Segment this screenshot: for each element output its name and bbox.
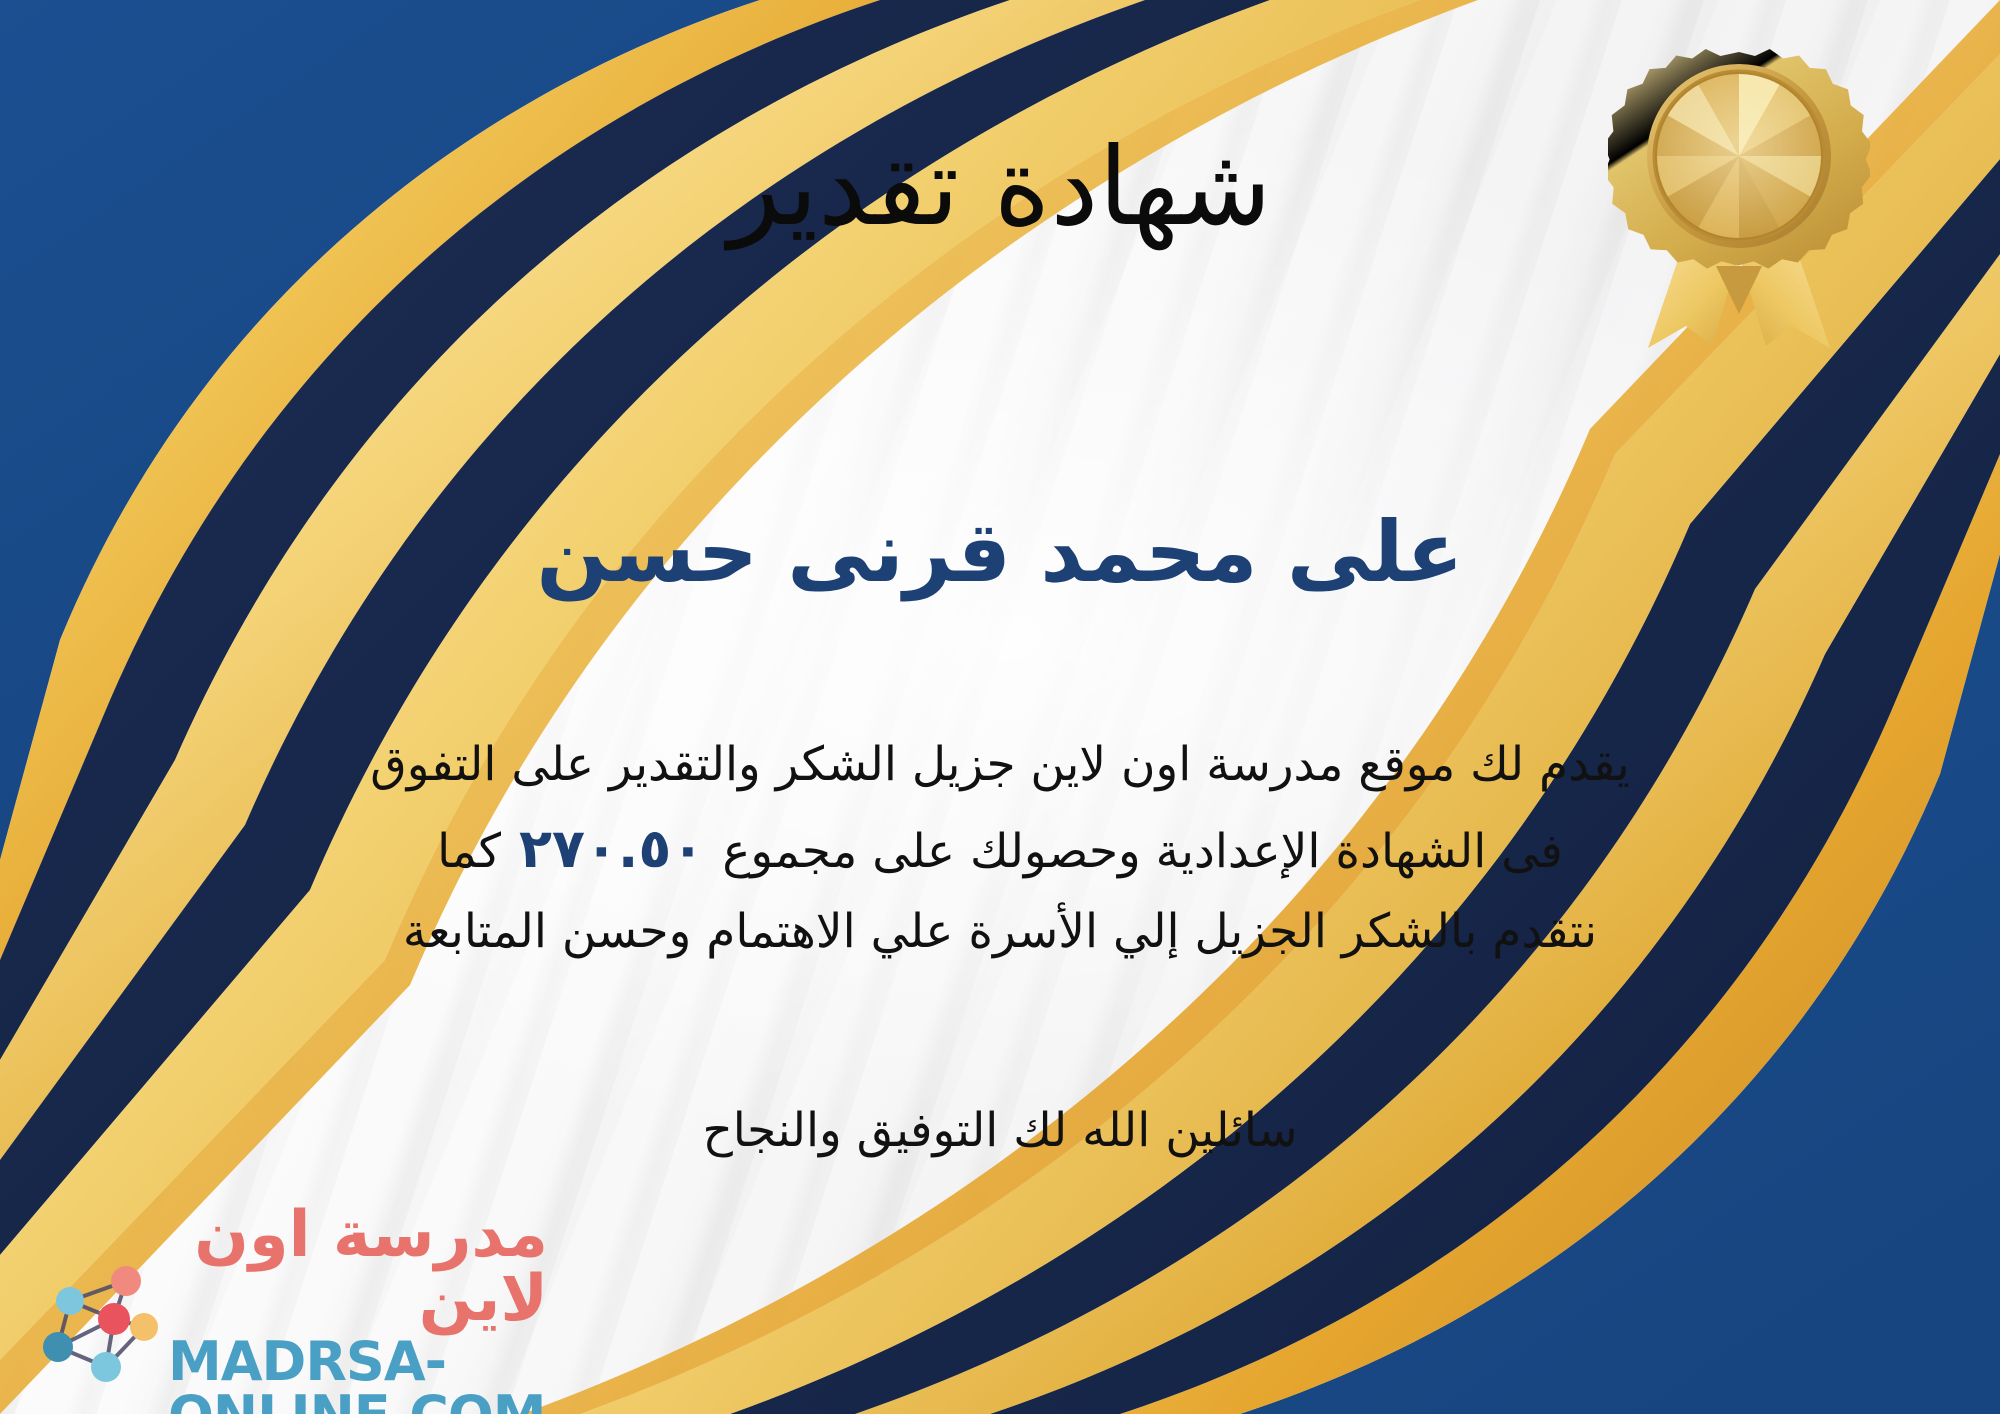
certificate-body: يقدم لك موقع مدرسة اون لاين جزيل الشكر و… xyxy=(60,726,1940,970)
brand-text-block: مدرسة اون لاين MADRSA-ONLINE.COM xyxy=(168,1203,548,1414)
closing-line: سائلين الله لك التوفيق والنجاح xyxy=(0,1096,2000,1167)
body-line-2-prefix: فى الشهادة الإعدادية وحصولك على مجموع xyxy=(722,824,1563,879)
medal-ribbon-right xyxy=(1738,248,1830,348)
medal-core-brushed xyxy=(1656,73,1822,239)
medal-ribbon-left xyxy=(1648,248,1740,348)
network-nodes-logo-icon xyxy=(28,1257,160,1389)
brand-logo[interactable]: مدرسة اون لاين MADRSA-ONLINE.COM xyxy=(28,1248,548,1398)
brand-arabic-name: مدرسة اون لاين xyxy=(168,1203,548,1331)
gold-award-medal-icon xyxy=(1608,38,1870,348)
body-line-1: يقدم لك موقع مدرسة اون لاين جزيل الشكر و… xyxy=(60,726,1940,804)
body-line-2: فى الشهادة الإعدادية وحصولك على مجموع٢٧٠… xyxy=(60,804,1940,893)
brand-website: MADRSA-ONLINE.COM xyxy=(168,1335,548,1414)
body-line-3: نتقدم بالشكر الجزيل إلي الأسرة علي الاهت… xyxy=(60,893,1940,971)
certificate-canvas: شهادة تقدير على محمد قرنى حسن يقدم لك مو… xyxy=(0,0,2000,1414)
score-value: ٢٧٠.٥٠ xyxy=(501,817,722,880)
body-line-2-suffix: كما xyxy=(437,824,501,879)
recipient-name: على محمد قرنى حسن xyxy=(0,498,2000,607)
